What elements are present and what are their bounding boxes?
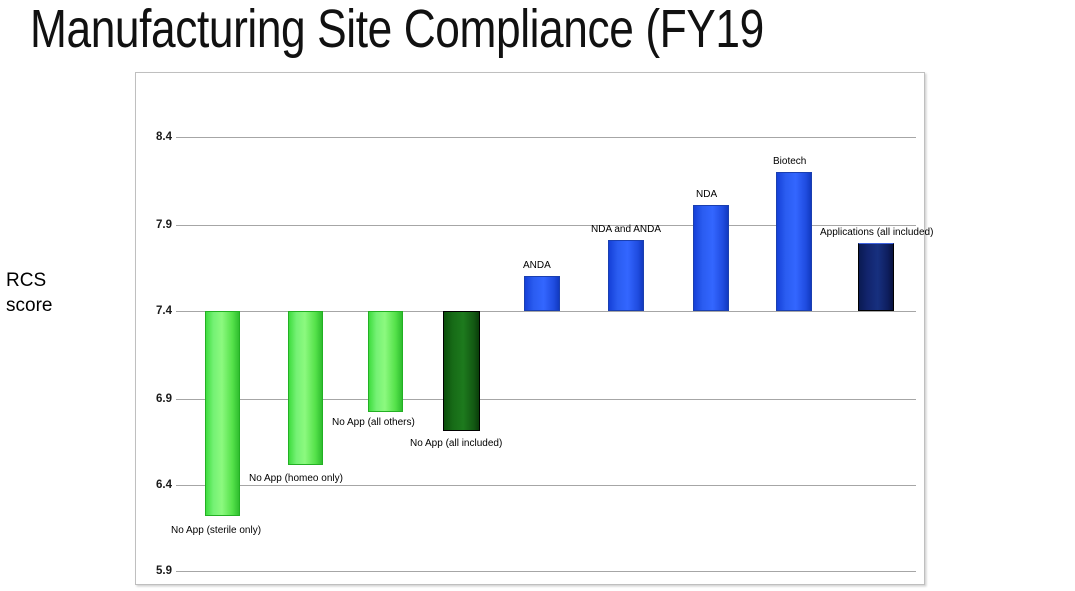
bar-label: No App (all others) — [332, 417, 415, 429]
bar[interactable] — [776, 172, 812, 311]
y-axis-tick-label: 6.4 — [138, 479, 172, 491]
y-axis-tick-label: 7.4 — [138, 305, 172, 317]
bar-label: ANDA — [523, 260, 551, 272]
bar-label: No App (sterile only) — [171, 525, 261, 537]
bar-label: Applications (all included) — [820, 227, 933, 239]
bar[interactable] — [608, 240, 644, 311]
bar-label: NDA and ANDA — [591, 224, 661, 236]
chart-container: 8.47.97.46.96.45.9 No App (sterile only)… — [135, 72, 925, 585]
bar-label: NDA — [696, 189, 717, 201]
gridline — [176, 311, 916, 312]
bar-label: No App (homeo only) — [249, 473, 343, 485]
bar[interactable] — [288, 311, 323, 465]
gridline — [176, 571, 916, 572]
bar[interactable] — [858, 243, 894, 311]
bar[interactable] — [693, 205, 729, 311]
gridline — [176, 485, 916, 486]
y-axis-tick-label: 8.4 — [138, 131, 172, 143]
y-axis-caption: RCS score — [6, 268, 52, 318]
y-axis-tick-label: 7.9 — [138, 219, 172, 231]
bar-label: Biotech — [773, 156, 806, 168]
y-axis-caption-line2: score — [6, 293, 52, 318]
page-title: Manufacturing Site Compliance (FY19 — [30, 0, 764, 62]
y-axis-tick-label: 5.9 — [138, 565, 172, 577]
gridline — [176, 137, 916, 138]
bar[interactable] — [524, 276, 560, 311]
bar[interactable] — [368, 311, 403, 412]
bar[interactable] — [443, 311, 480, 431]
y-axis-tick-label: 6.9 — [138, 393, 172, 405]
gridline — [176, 399, 916, 400]
bar-label: No App (all included) — [410, 438, 502, 450]
y-axis-caption-line1: RCS — [6, 268, 52, 293]
bar[interactable] — [205, 311, 240, 516]
plot-area: 8.47.97.46.96.45.9 No App (sterile only)… — [136, 73, 924, 584]
